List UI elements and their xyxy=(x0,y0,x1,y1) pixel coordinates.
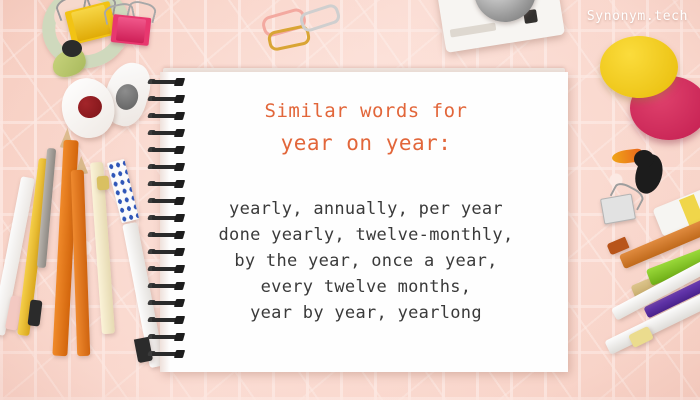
synonym-line: yearly, annually, per year xyxy=(170,196,562,222)
toucan-head xyxy=(634,150,654,168)
silver-binder-clip xyxy=(600,193,636,224)
yellow-macaron xyxy=(600,36,678,98)
synonym-list: yearly, annually, per yeardone yearly, t… xyxy=(170,196,562,326)
spiral-ring xyxy=(148,333,186,340)
heading-line-1: Similar words for xyxy=(170,100,562,122)
synonym-line: every twelve months, xyxy=(170,274,562,300)
synonym-line: year by year, yearlong xyxy=(170,300,562,326)
synonym-line: done yearly, twelve-monthly, xyxy=(170,222,562,248)
spiral-ring xyxy=(148,180,186,187)
brand-watermark: Synonym.tech xyxy=(587,9,688,24)
pink-binder-clip xyxy=(111,14,152,46)
spiral-ring xyxy=(148,350,186,357)
spiral-ring xyxy=(148,163,186,170)
desk-scene: Similar words for year on year: yearly, … xyxy=(0,0,700,400)
spiral-ring xyxy=(148,78,186,85)
heading-line-2: year on year: xyxy=(170,131,562,155)
synonym-line: by the year, once a year, xyxy=(170,248,562,274)
bird-head xyxy=(62,40,82,57)
cream-pen-band xyxy=(97,176,110,191)
